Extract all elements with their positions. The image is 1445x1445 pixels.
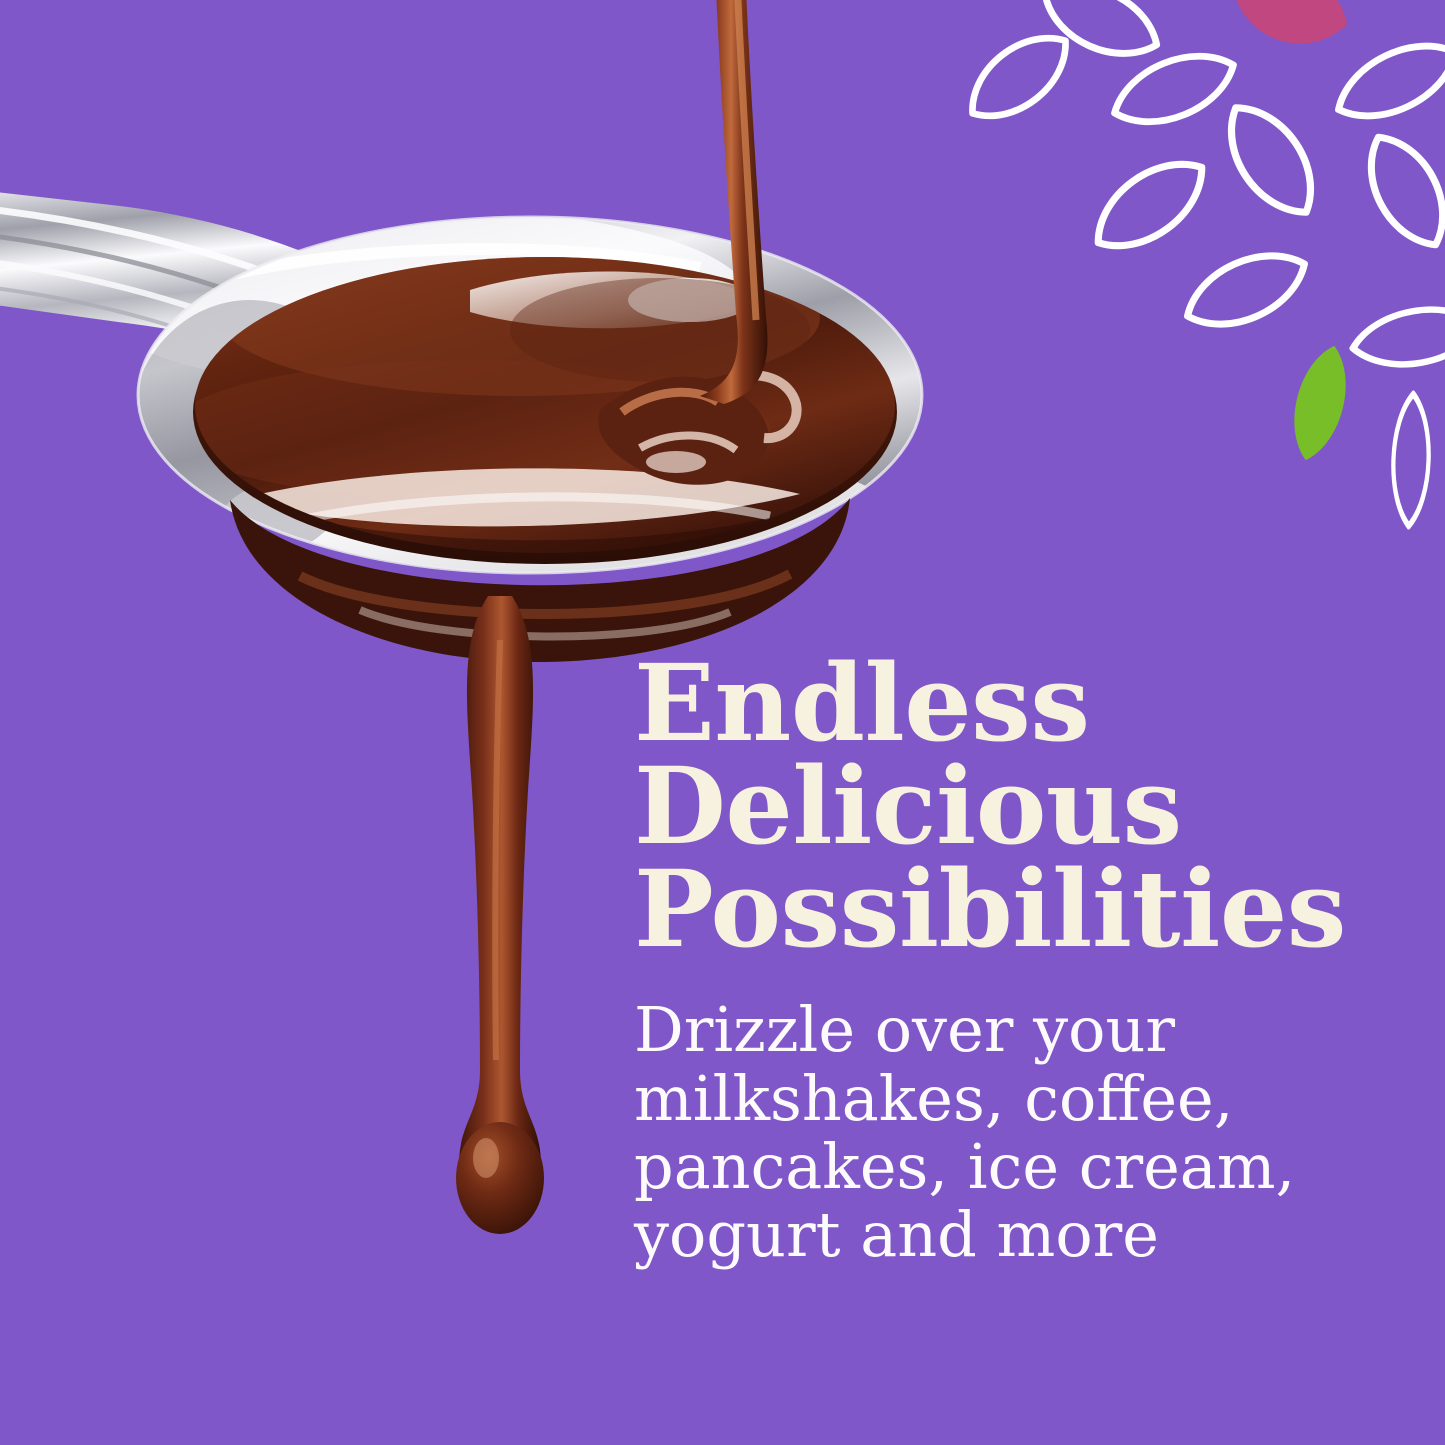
chocolate-drip — [456, 596, 544, 1234]
product-lifestyle-banner: Endless Delicious Possibilities Drizzle … — [0, 0, 1445, 1445]
leaf-outline-9 — [1348, 300, 1445, 374]
leaf-outline-5 — [1211, 91, 1331, 229]
leaf-pink-accent — [1222, 0, 1358, 59]
leaf-outline-6 — [1081, 144, 1219, 267]
leaf-outline-3 — [1104, 39, 1243, 138]
leaf-outline-7 — [1353, 123, 1445, 258]
subcopy-line-1: Drizzle over your — [634, 996, 1424, 1064]
headline-line-3: Possibilities — [634, 858, 1424, 961]
subcopy-text: Drizzle over your milkshakes, coffee, pa… — [634, 996, 1424, 1269]
leaf-outline-1 — [955, 19, 1082, 135]
leaf-outline-4 — [1326, 28, 1445, 135]
headline-line-1: Endless — [634, 652, 1424, 755]
page-title: Endless Delicious Possibilities — [634, 652, 1424, 960]
headline-line-2: Delicious — [634, 755, 1424, 858]
chocolate-droplet — [456, 1122, 544, 1234]
leaf-outline-10 — [1391, 393, 1431, 526]
leaf-outline-2 — [1034, 0, 1169, 71]
subcopy-line-2: milkshakes, coffee, — [634, 1065, 1424, 1133]
marketing-copy-block: Endless Delicious Possibilities Drizzle … — [634, 652, 1424, 1269]
subcopy-line-3: pancakes, ice cream, — [634, 1133, 1424, 1201]
subcopy-line-4: yogurt and more — [634, 1201, 1424, 1269]
leaf-outline-8 — [1176, 238, 1316, 342]
leaf-green-accent — [1283, 340, 1357, 466]
